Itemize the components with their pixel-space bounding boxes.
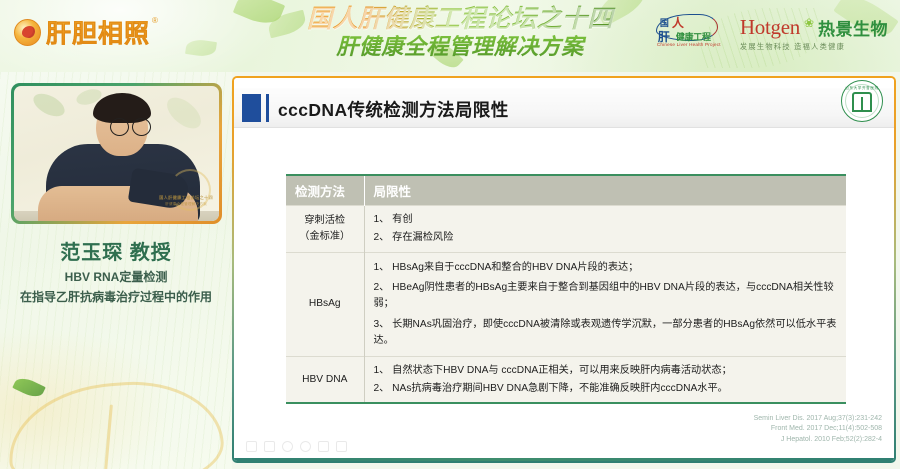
- seal-arc-text: 山东大学齐鲁医院: [845, 86, 879, 91]
- table-row: 穿刺活检 （金标准） 1、 有创 2、 存在漏检风险: [286, 206, 846, 253]
- limitation-item: 1、 HBsAg来自于cccDNA和整合的HBV DNA片段的表达；: [374, 260, 838, 276]
- speaker-topic-line-2: 在指导乙肝抗病毒治疗过程中的作用: [4, 288, 228, 308]
- speaker-panel: 国人肝健康工程论坛之十四 肝健康全程管理解决方案 范玉琛 教授 HBV RNA定…: [0, 72, 232, 469]
- institution-seal-icon: 山东大学齐鲁医院: [841, 80, 883, 122]
- photo-watermark: 国人肝健康工程论坛之十四 肝健康全程管理解决方案: [159, 195, 213, 207]
- hotgen-chinese-name: 热景生物: [818, 21, 888, 38]
- liver-badge-icon: [14, 19, 41, 46]
- banner-title-group: 国人肝健康工程论坛之十四 肝健康全程管理解决方案: [290, 5, 630, 60]
- expand-icon[interactable]: [336, 441, 347, 452]
- speaker-photo-frame: 国人肝健康工程论坛之十四 肝健康全程管理解决方案: [11, 83, 222, 224]
- limitation-item: 2、 HBeAg阴性患者的HBsAg主要来自于整合到基因组中的HBV DNA片段…: [374, 280, 838, 312]
- cell-limitations: 1、 有创 2、 存在漏检风险: [364, 206, 846, 253]
- limitation-item: 3、 长期NAs巩固治疗，即使cccDNA被清除或表观遗传学沉默，一部分患者的H…: [374, 317, 838, 349]
- reference-item: Front Med. 2017 Dec;11(4):502-508: [754, 424, 882, 435]
- speaker-topic: HBV RNA定量检测 在指导乙肝抗病毒治疗过程中的作用: [4, 268, 228, 308]
- cell-method: HBsAg: [286, 252, 364, 356]
- presentation-toolbar[interactable]: [246, 441, 347, 452]
- photo-background-blob: [30, 89, 68, 121]
- limitation-item: 1、 有创: [374, 212, 838, 228]
- slide-frame: cccDNA传统检测方法局限性 山东大学齐鲁医院 检测方法 局限性: [232, 76, 896, 463]
- leaf-decoration-icon: [12, 374, 46, 401]
- eyeglasses-icon: [110, 118, 152, 135]
- cell-limitations: 1、 HBsAg来自于cccDNA和整合的HBV DNA片段的表达； 2、 HB…: [364, 252, 846, 356]
- limitation-item: 1、 自然状态下HBV DNA与 cccDNA正相关，可以用来反映肝内病毒活动状…: [374, 363, 838, 379]
- presentation-screen: 肝胆相照 ® 国人肝健康工程论坛之十四 肝健康全程管理解决方案 国 人 肝 健康…: [0, 0, 900, 469]
- table-row: HBV DNA 1、 自然状态下HBV DNA与 cccDNA正相关，可以用来反…: [286, 356, 846, 403]
- slides-icon[interactable]: [318, 441, 329, 452]
- cell-method: 穿刺活检 （金标准）: [286, 206, 364, 253]
- limitation-item: 2、 NAs抗病毒治疗期间HBV DNA急剧下降，不能准确反映肝内cccDNA水…: [374, 381, 838, 397]
- title-accent-block-icon: [242, 94, 261, 122]
- program-logo: 肝胆相照 ®: [14, 14, 158, 50]
- column-header-method: 检测方法: [286, 175, 364, 206]
- butterfly-icon: ❀: [804, 16, 814, 30]
- cell-limitations: 1、 自然状态下HBV DNA与 cccDNA正相关，可以用来反映肝内病毒活动状…: [364, 356, 846, 403]
- reference-item: Semin Liver Dis. 2017 Aug;37(3):231-242: [754, 414, 882, 425]
- slide-content: cccDNA传统检测方法局限性 山东大学齐鲁医院 检测方法 局限性: [234, 78, 894, 461]
- limitations-table-wrapper: 检测方法 局限性 穿刺活检 （金标准） 1、 有创 2、 存在漏检风险: [286, 174, 846, 404]
- shield-icon[interactable]: [282, 441, 293, 452]
- cell-method: HBV DNA: [286, 356, 364, 403]
- column-header-limitations: 局限性: [364, 175, 846, 206]
- pen-icon[interactable]: [246, 441, 257, 452]
- banner-sub-title: 肝健康全程管理解决方案: [290, 34, 630, 60]
- limitation-item: 2、 存在漏检风险: [374, 230, 838, 246]
- clhp-english-name: Chinese Liver Health Project: [657, 42, 721, 47]
- program-logo-text: 肝胆相照: [46, 14, 150, 50]
- chinese-liver-health-project-logo: 国 人 肝 健康工程 Chinese Liver Health Project: [650, 11, 726, 57]
- hotgen-tagline: 发展生物科技 造福人类健康: [740, 42, 888, 52]
- slide-bottom-rule: [234, 458, 894, 461]
- photo-background-blob: [162, 92, 207, 135]
- pointer-icon[interactable]: [264, 441, 275, 452]
- reference-list: Semin Liver Dis. 2017 Aug;37(3):231-242 …: [754, 414, 882, 446]
- slide-title: cccDNA传统检测方法局限性: [278, 97, 509, 122]
- leaf-decoration-icon: [185, 38, 217, 58]
- table-row: HBsAg 1、 HBsAg来自于cccDNA和整合的HBV DNA片段的表达；…: [286, 252, 846, 356]
- hotgen-logo: Hotgen ❀ 热景生物 发展生物科技 造福人类健康: [740, 16, 888, 52]
- registered-mark: ®: [152, 16, 158, 25]
- speaker-photo: 国人肝健康工程论坛之十四 肝健康全程管理解决方案: [14, 86, 219, 221]
- table-header-row: 检测方法 局限性: [286, 175, 846, 206]
- event-banner: 肝胆相照 ® 国人肝健康工程论坛之十四 肝健康全程管理解决方案 国 人 肝 健康…: [0, 0, 900, 72]
- watermark-ring-icon: [169, 169, 211, 211]
- hotgen-english-name: Hotgen: [740, 17, 800, 38]
- seal-glyph: [852, 92, 872, 112]
- menu-icon[interactable]: [300, 441, 311, 452]
- limitations-table: 检测方法 局限性 穿刺活检 （金标准） 1、 有创 2、 存在漏检风险: [286, 174, 846, 404]
- banner-main-title: 国人肝健康工程论坛之十四: [290, 5, 630, 33]
- clhp-char-ren: 人: [672, 14, 684, 31]
- title-accent-line-icon: [266, 94, 269, 122]
- reference-item: J Hepatol. 2010 Feb;52(2):282-4: [754, 435, 882, 446]
- slide-title-bar: cccDNA传统检测方法局限性: [234, 88, 894, 128]
- speaker-name: 范玉琛 教授: [0, 236, 232, 265]
- sponsor-logos: 国 人 肝 健康工程 Chinese Liver Health Project …: [650, 11, 888, 57]
- speaker-topic-line-1: HBV RNA定量检测: [4, 268, 228, 288]
